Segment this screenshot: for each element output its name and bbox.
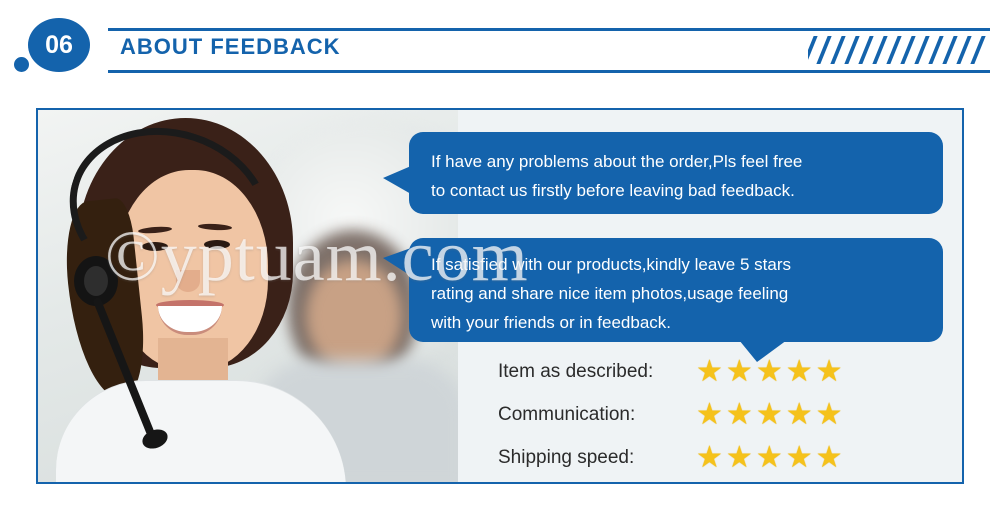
slash-mark [808, 36, 818, 64]
header-rule-bottom [108, 70, 990, 73]
rating-row: Item as described: ★ ★ ★ ★ ★ [498, 350, 948, 393]
rating-label-shipping-speed: Shipping speed: [498, 447, 696, 469]
header-rule-top [108, 28, 990, 31]
rating-row: Shipping speed: ★ ★ ★ ★ ★ [498, 436, 948, 479]
rating-label-item-as-described: Item as described: [498, 361, 696, 383]
section-header: 06 ABOUT FEEDBACK [0, 0, 1000, 90]
star-icon: ★ [726, 357, 753, 387]
bubble1-line2: to contact us firstly before leaving bad… [431, 176, 921, 205]
slash-mark [914, 36, 929, 64]
bubble1-line1: If have any problems about the order,Pls… [431, 147, 921, 176]
slash-mark [844, 36, 859, 64]
slash-mark [956, 36, 971, 64]
star-icon: ★ [816, 400, 843, 430]
rating-list: Item as described: ★ ★ ★ ★ ★ Communicati… [498, 350, 948, 479]
star-icon: ★ [696, 400, 723, 430]
feedback-panel: If have any problems about the order,Pls… [36, 108, 964, 484]
speech-bubble-tail [383, 166, 411, 194]
slash-mark [872, 36, 887, 64]
headset-earpiece-inner [84, 266, 108, 296]
star-icon: ★ [756, 357, 783, 387]
star-icon: ★ [696, 357, 723, 387]
rating-row: Communication: ★ ★ ★ ★ ★ [498, 393, 948, 436]
slash-mark [900, 36, 915, 64]
background-person-face [306, 260, 402, 372]
slash-mark [886, 36, 901, 64]
slash-mark [942, 36, 957, 64]
bubble2-line3: with your friends or in feedback. [431, 308, 921, 337]
rating-stars-item-as-described: ★ ★ ★ ★ ★ [696, 357, 843, 387]
star-icon: ★ [696, 443, 723, 473]
slash-mark [970, 36, 985, 64]
rating-stars-shipping-speed: ★ ★ ★ ★ ★ [696, 443, 843, 473]
rating-stars-communication: ★ ★ ★ ★ ★ [696, 400, 843, 430]
page-title: ABOUT FEEDBACK [120, 34, 341, 60]
star-icon: ★ [756, 443, 783, 473]
speech-bubble-problems: If have any problems about the order,Pls… [409, 132, 943, 214]
slash-decoration [808, 36, 988, 64]
star-icon: ★ [816, 443, 843, 473]
bubble2-line1: If satisfied with our products,kindly le… [431, 250, 921, 279]
star-icon: ★ [726, 400, 753, 430]
star-icon: ★ [816, 357, 843, 387]
rating-label-communication: Communication: [498, 404, 696, 426]
star-icon: ★ [726, 443, 753, 473]
badge-accent-dot [14, 57, 29, 72]
slash-mark [928, 36, 943, 64]
section-number-badge: 06 [28, 18, 90, 72]
bubble2-line2: rating and share nice item photos,usage … [431, 279, 921, 308]
slash-mark [858, 36, 873, 64]
slash-mark [816, 36, 831, 64]
slash-mark [830, 36, 845, 64]
star-icon: ★ [756, 400, 783, 430]
star-icon: ★ [786, 443, 813, 473]
speech-bubble-satisfied: If satisfied with our products,kindly le… [409, 238, 943, 342]
speech-bubble-tail-2 [383, 248, 411, 276]
star-icon: ★ [786, 400, 813, 430]
star-icon: ★ [786, 357, 813, 387]
